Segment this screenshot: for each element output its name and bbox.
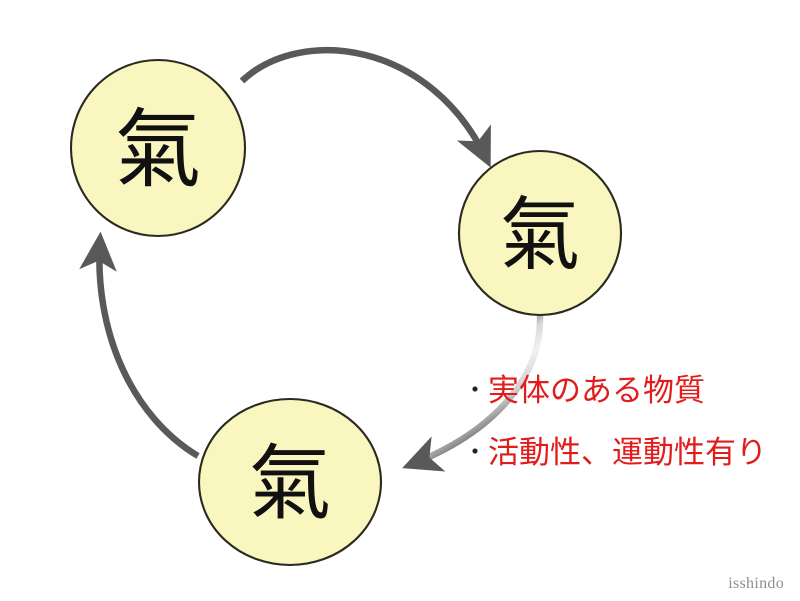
annotation-line-1: ・実体のある物質 bbox=[463, 376, 705, 407]
watermark-label: isshindo bbox=[728, 575, 784, 593]
node-bottom[interactable]: 氣 bbox=[199, 399, 381, 565]
bullet-icon: ・ bbox=[463, 376, 487, 404]
diagram-canvas: 氣 氣 氣 ・実体のある物質 ・活動性、運動性有り isshindo bbox=[0, 0, 800, 601]
annotation-line-1-text: 実体のある物質 bbox=[488, 373, 705, 409]
bullet-icon: ・ bbox=[463, 438, 487, 466]
arrow-top-left-to-right bbox=[242, 50, 487, 160]
node-bottom-label: 氣 bbox=[249, 437, 331, 532]
node-right[interactable]: 氣 bbox=[459, 151, 621, 315]
node-right-label: 氣 bbox=[500, 189, 580, 282]
cycle-diagram: 氣 氣 氣 bbox=[0, 0, 800, 601]
annotation-line-2-text: 活動性、運動性有り bbox=[488, 435, 767, 471]
node-top-left-label: 氣 bbox=[115, 100, 201, 200]
node-group: 氣 氣 氣 bbox=[71, 60, 621, 565]
annotation-line-2: ・活動性、運動性有り bbox=[463, 438, 767, 469]
node-top-left[interactable]: 氣 bbox=[71, 60, 245, 236]
arrow-bottom-to-top-left bbox=[99, 240, 198, 456]
